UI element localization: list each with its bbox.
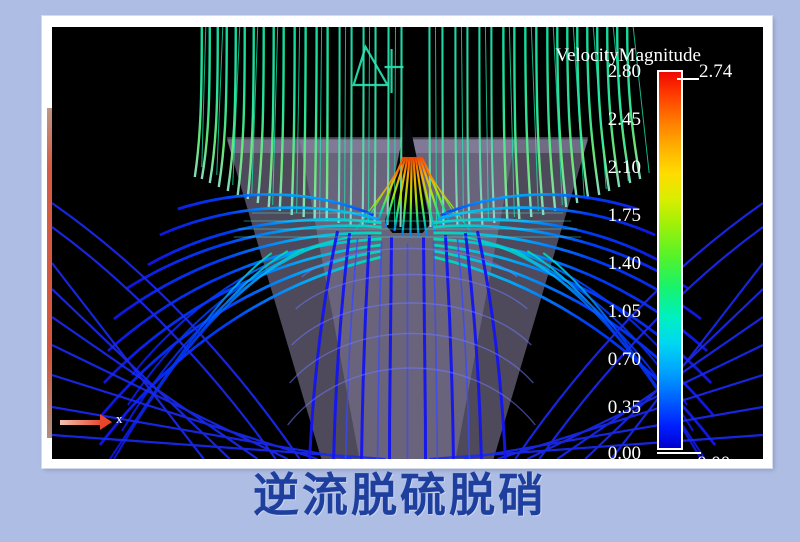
range-min-tick [657, 452, 701, 454]
colorbar-tick-0: 2.80 [571, 61, 641, 83]
colorbar-tick-5: 1.05 [571, 301, 641, 323]
colorbar-tick-4: 1.40 [571, 253, 641, 275]
range-max-tick [677, 78, 699, 80]
colorbar-tick-6: 0.70 [571, 349, 641, 371]
colorbar-tick-7: 0.35 [571, 397, 641, 419]
colorbar-tick-1: 2.45 [571, 109, 641, 131]
render-canvas[interactable]: x VelocityMagnitude 2.80 2.45 2.10 1.75 … [52, 27, 763, 459]
colorbar-tick-3: 1.75 [571, 205, 641, 227]
figure-frame: x VelocityMagnitude 2.80 2.45 2.10 1.75 … [42, 16, 772, 468]
range-max-label: 2.74 [699, 61, 732, 83]
colorbar-legend[interactable]: VelocityMagnitude 2.80 2.45 2.10 1.75 1.… [517, 31, 753, 459]
colorbar-gradient[interactable] [657, 70, 683, 450]
axis-label-x: x [116, 411, 123, 427]
figure-caption: 逆流脱硫脱硝 [0, 472, 800, 518]
axis-arrow-icon [60, 420, 102, 425]
colorbar-tick-2: 2.10 [571, 157, 641, 179]
axis-indicator: x [60, 409, 130, 435]
axis-arrow-head-icon [100, 414, 112, 430]
left-accent-strip [47, 108, 52, 438]
colorbar-tick-8: 0.00 [571, 443, 641, 459]
range-min-label: 0.00 [697, 453, 730, 459]
